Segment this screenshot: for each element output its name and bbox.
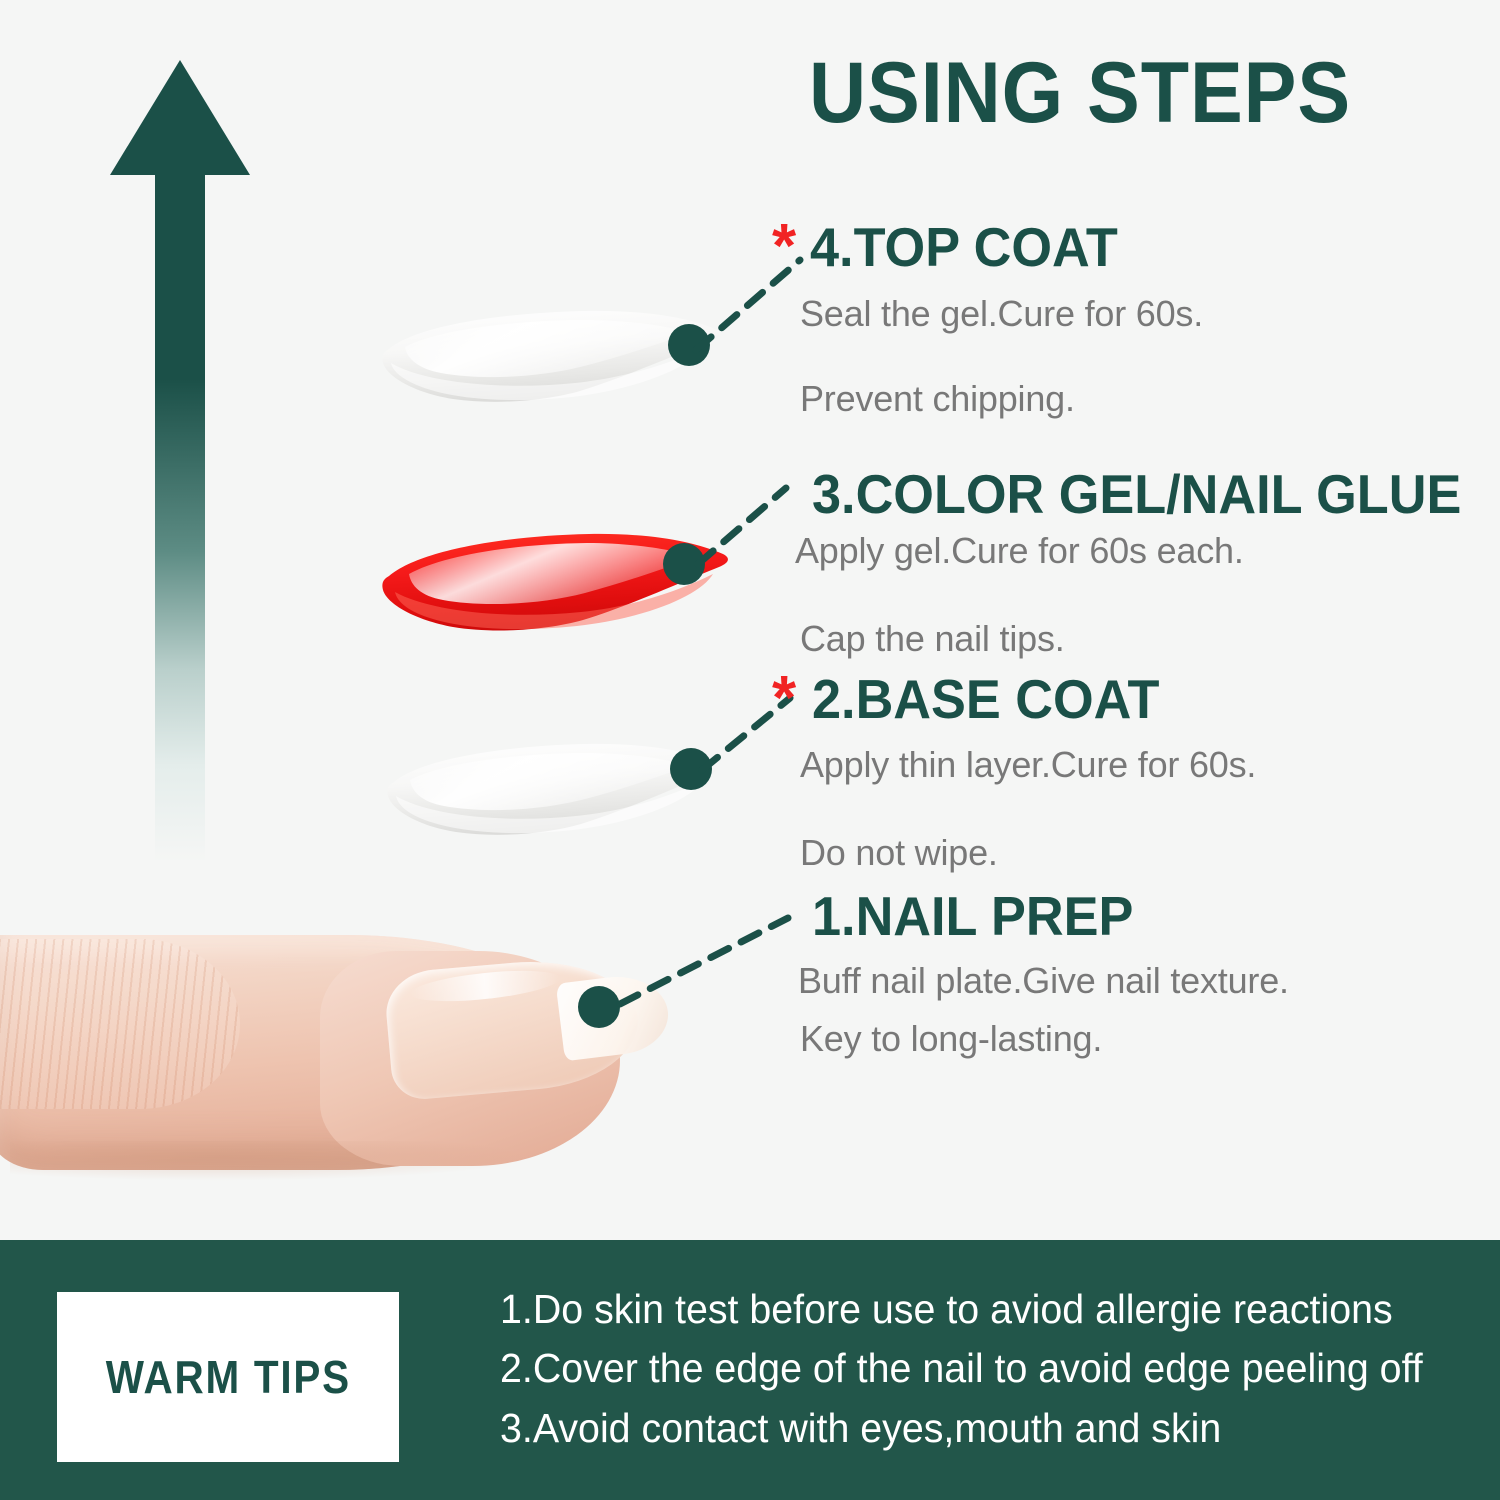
warm-tips-footer: WARM TIPS 1.Do skin test before use to a…: [0, 1240, 1500, 1500]
step-line-top-coat-1: Seal the gel.Cure for 60s.: [800, 293, 1203, 335]
swatch-natural-finger-nail: [0, 925, 690, 1225]
leader-line-step-1: [612, 908, 802, 1013]
page-title: USING STEPS: [804, 48, 1356, 138]
upward-progress-arrow: [110, 60, 250, 860]
leader-line-step-4: [688, 250, 818, 360]
warm-tips-label: WARM TIPS: [105, 1350, 350, 1404]
arrow-head-icon: [110, 60, 250, 175]
leader-line-step-3: [690, 478, 800, 573]
step-line-top-coat-2: Prevent chipping.: [800, 378, 1075, 420]
step-line-nail-prep-2: Key to long-lasting.: [800, 1018, 1102, 1060]
required-asterisk-step-2: *: [772, 668, 796, 730]
warm-tips-list: 1.Do skin test before use to aviod aller…: [500, 1280, 1450, 1458]
step-title-color-gel: 3.COLOR GEL/NAIL GLUE: [812, 462, 1461, 526]
arrow-shaft: [155, 172, 205, 862]
step-title-base-coat: 2.BASE COAT: [812, 667, 1159, 731]
step-title-nail-prep: 1.NAIL PREP: [812, 884, 1133, 948]
using-steps-infographic: USING STEPS: [0, 0, 1500, 1500]
step-line-base-coat-2: Do not wipe.: [800, 832, 998, 874]
warm-tip-item: 3.Avoid contact with eyes,mouth and skin: [500, 1399, 1412, 1458]
required-asterisk-step-4: *: [772, 216, 796, 278]
step-line-color-gel-2: Cap the nail tips.: [800, 618, 1065, 660]
finger-shadow: [10, 1141, 530, 1181]
finger-skin-texture: [0, 939, 240, 1109]
step-line-nail-prep-1: Buff nail plate.Give nail texture.: [798, 960, 1289, 1002]
step-title-top-coat: 4.TOP COAT: [810, 215, 1118, 279]
warm-tip-item: 1.Do skin test before use to aviod aller…: [500, 1280, 1412, 1339]
step-line-color-gel-1: Apply gel.Cure for 60s each.: [795, 530, 1244, 572]
warm-tips-badge: WARM TIPS: [57, 1292, 399, 1462]
warm-tip-item: 2.Cover the edge of the nail to avoid ed…: [500, 1339, 1412, 1398]
step-line-base-coat-1: Apply thin layer.Cure for 60s.: [800, 744, 1256, 786]
